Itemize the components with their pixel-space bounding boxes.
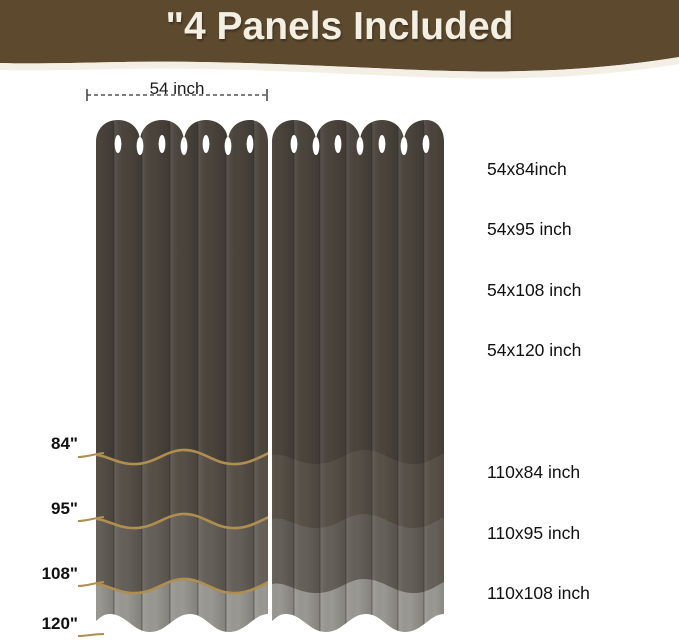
infographic-canvas: "4 Panels Included 54 inch <box>0 0 679 643</box>
dimension-arrow-svg <box>86 88 268 102</box>
leader-line-95 <box>78 516 104 524</box>
size-label-54x120: 54x120 inch <box>487 340 581 361</box>
curtain-left-svg <box>86 116 270 643</box>
curtain-panel-right <box>268 116 448 643</box>
curtain-panel-left <box>86 116 270 643</box>
curtain-pleats-right <box>268 116 448 643</box>
size-label-54x108: 54x108 inch <box>487 280 581 301</box>
header-banner: "4 Panels Included <box>0 0 679 86</box>
size-label-110x84: 110x84 inch <box>487 462 580 483</box>
leader-line-120 <box>78 631 104 639</box>
size-label-110x95: 110x95 inch <box>487 523 580 544</box>
page-title: "4 Panels Included <box>0 3 679 51</box>
size-label-54x95: 54x95 inch <box>487 219 572 240</box>
length-label-95: 95" <box>10 499 78 519</box>
width-dimension-line <box>86 88 268 102</box>
curtain-pleats-left <box>86 116 270 643</box>
length-label-120: 120" <box>2 614 78 634</box>
leader-line-84 <box>78 452 104 460</box>
length-label-108: 108" <box>2 564 78 584</box>
leader-line-108 <box>78 581 104 589</box>
size-label-54x84: 54x84inch <box>487 159 567 180</box>
size-label-110x108: 110x108 inch <box>487 583 590 604</box>
length-label-84: 84" <box>10 434 78 454</box>
curtain-right-svg <box>268 116 448 643</box>
